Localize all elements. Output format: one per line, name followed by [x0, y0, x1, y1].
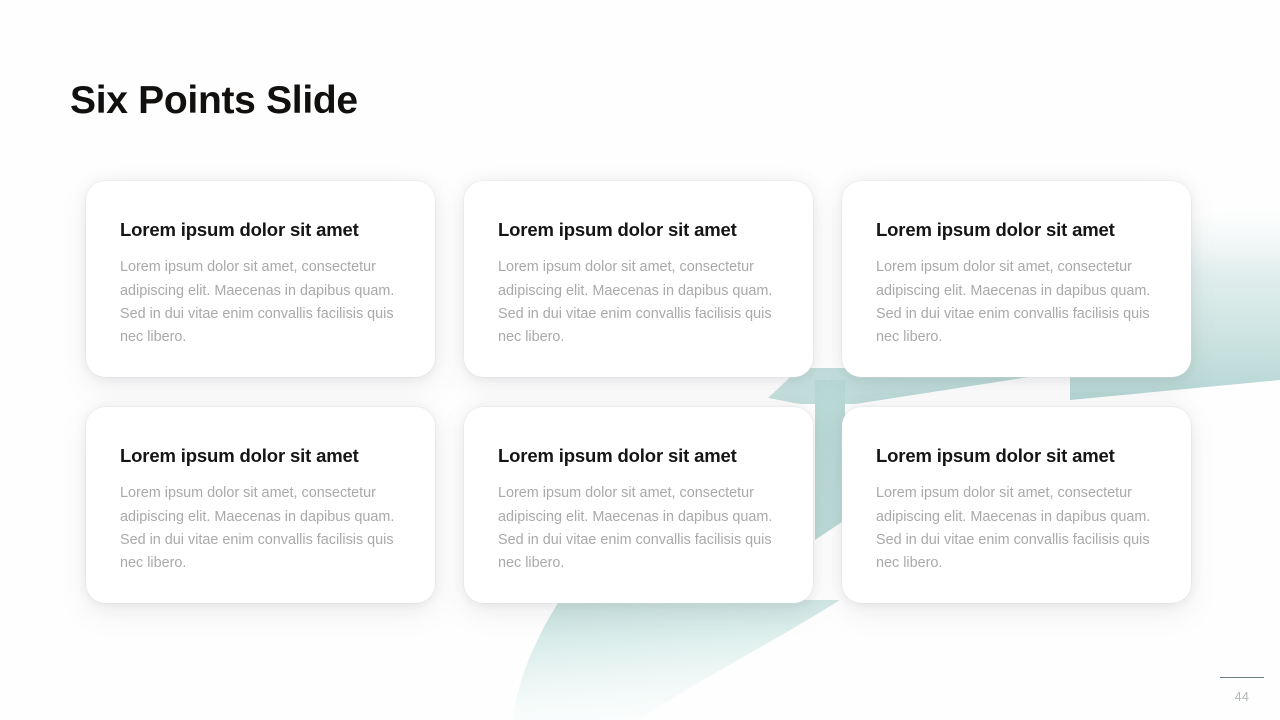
point-card-4[interactable]: Lorem ipsum dolor sit amet Lorem ipsum d… — [86, 407, 435, 603]
card-body: Lorem ipsum dolor sit amet, consectetur … — [120, 482, 402, 575]
point-card-6[interactable]: Lorem ipsum dolor sit amet Lorem ipsum d… — [842, 407, 1191, 603]
card-title: Lorem ipsum dolor sit amet — [120, 219, 405, 241]
card-title: Lorem ipsum dolor sit amet — [498, 445, 783, 467]
card-body: Lorem ipsum dolor sit amet, consectetur … — [498, 256, 780, 349]
slide-canvas: Six Points Slide Lorem ipsum dolor sit a… — [0, 0, 1280, 720]
page-number: 44 — [1220, 690, 1264, 704]
card-body: Lorem ipsum dolor sit amet, consectetur … — [876, 482, 1158, 575]
card-grid: Lorem ipsum dolor sit amet Lorem ipsum d… — [86, 181, 1194, 603]
point-card-3[interactable]: Lorem ipsum dolor sit amet Lorem ipsum d… — [842, 181, 1191, 377]
card-body: Lorem ipsum dolor sit amet, consectetur … — [498, 482, 780, 575]
point-card-1[interactable]: Lorem ipsum dolor sit amet Lorem ipsum d… — [86, 181, 435, 377]
page-title: Six Points Slide — [70, 80, 358, 123]
point-card-5[interactable]: Lorem ipsum dolor sit amet Lorem ipsum d… — [464, 407, 813, 603]
card-title: Lorem ipsum dolor sit amet — [120, 445, 405, 467]
card-title: Lorem ipsum dolor sit amet — [498, 219, 783, 241]
card-title: Lorem ipsum dolor sit amet — [876, 219, 1161, 241]
teal-ribbon-bottom — [512, 600, 840, 720]
point-card-2[interactable]: Lorem ipsum dolor sit amet Lorem ipsum d… — [464, 181, 813, 377]
card-title: Lorem ipsum dolor sit amet — [876, 445, 1161, 467]
page-number-rule — [1220, 677, 1264, 679]
card-body: Lorem ipsum dolor sit amet, consectetur … — [120, 256, 402, 349]
card-body: Lorem ipsum dolor sit amet, consectetur … — [876, 256, 1158, 349]
